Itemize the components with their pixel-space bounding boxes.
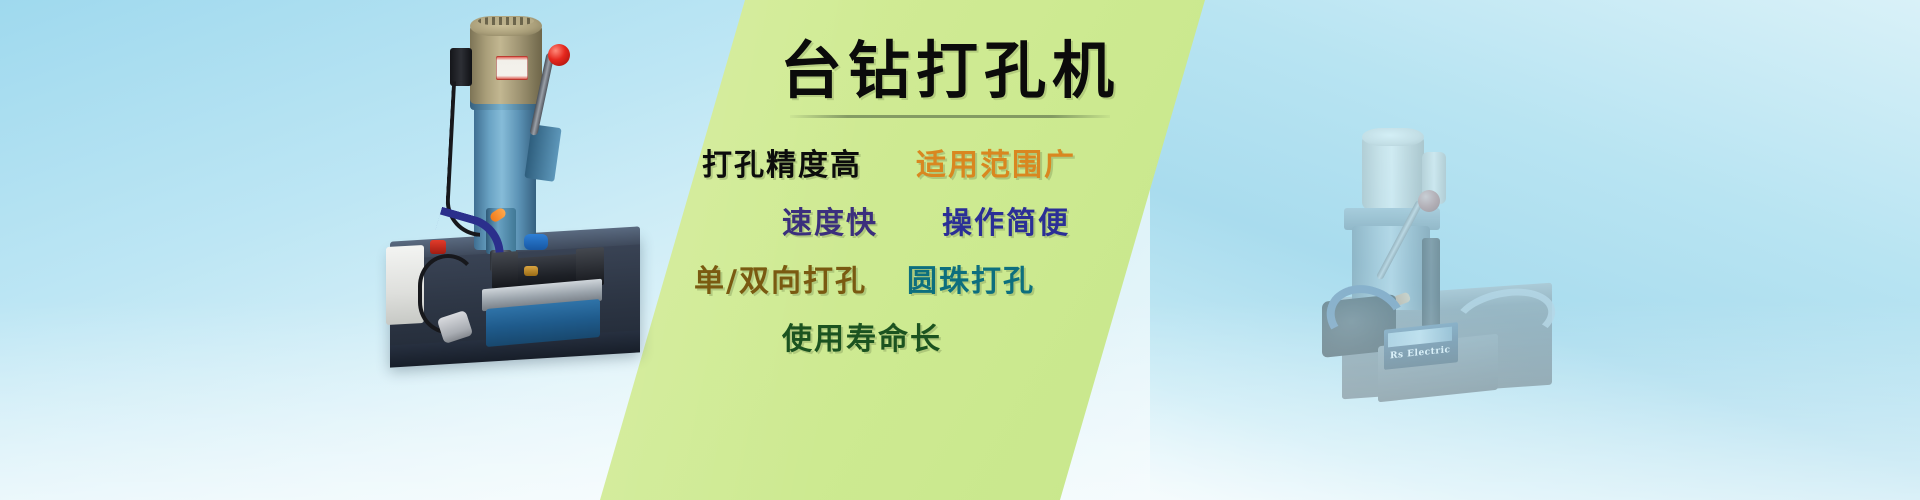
machine-feed-handle-ball	[548, 44, 570, 66]
feature-row: 打孔精度高 适用范围广	[640, 140, 1240, 184]
feature-row: 速度快 操作简便	[640, 198, 1240, 242]
machine-coolant-valve	[430, 240, 446, 254]
page-title: 台钻打孔机	[690, 38, 1210, 103]
bench-drill-photo-primary	[378, 8, 648, 363]
title-underline	[790, 115, 1110, 118]
feature-ball: 圆珠打孔	[907, 256, 1035, 300]
feature-range: 适用范围广	[916, 140, 1076, 184]
feature-row: 使用寿命长	[640, 314, 1240, 358]
machine-motor-label	[496, 56, 528, 80]
feature-easy: 操作简便	[942, 198, 1070, 242]
feature-speed: 速度快	[782, 198, 878, 242]
machine2-motor-top	[1362, 128, 1424, 146]
machine-workpiece	[524, 266, 538, 276]
machine2-feed-handle-ball	[1418, 190, 1440, 212]
feature-lifespan: 使用寿命长	[782, 314, 942, 358]
bench-drill-photo-secondary: Rs Electric	[1322, 108, 1622, 408]
feature-precision: 打孔精度高	[702, 140, 862, 184]
title-block: 台钻打孔机	[690, 38, 1210, 118]
machine2-pillar	[1422, 238, 1440, 328]
machine-vise-jaw-left	[492, 251, 518, 289]
feature-row: 单/双向打孔 圆珠打孔	[640, 256, 1240, 300]
feature-direction: 单/双向打孔	[694, 256, 867, 300]
machine-adjust-knob	[524, 234, 548, 250]
product-banner: 台钻打孔机 打孔精度高 适用范围广 速度快 操作简便 单/双向打孔 圆珠打孔 使…	[0, 0, 1920, 500]
machine-motor-vents	[478, 17, 534, 25]
feature-list: 打孔精度高 适用范围广 速度快 操作简便 单/双向打孔 圆珠打孔 使用寿命长	[640, 140, 1240, 372]
